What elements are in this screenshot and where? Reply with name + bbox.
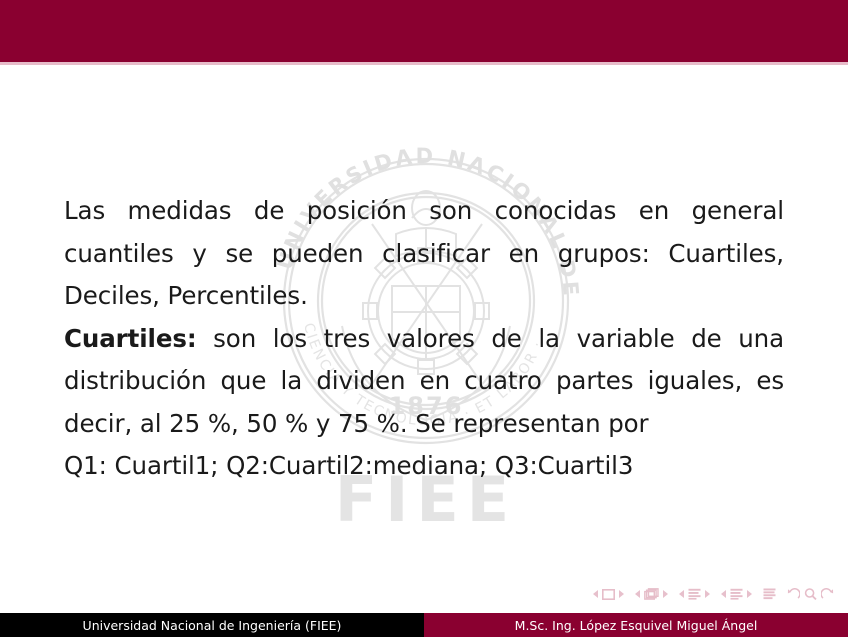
slide-header-underline	[0, 62, 848, 65]
back-arrow-icon[interactable]	[787, 588, 800, 600]
slide-root: Medidas de Posición UNIVERSIDAD NACIONAL…	[0, 0, 848, 637]
next-subsection-icon[interactable]	[705, 590, 710, 598]
nav-group-frame[interactable]	[635, 588, 668, 600]
frames-icon[interactable]	[644, 588, 659, 600]
slide-icon[interactable]	[602, 589, 615, 600]
nav-group-section[interactable]	[721, 588, 752, 600]
subsection-icon[interactable]	[688, 588, 701, 600]
document-icon[interactable]	[763, 588, 776, 600]
slide-footer: Universidad Nacional de Ingeniería (FIEE…	[0, 613, 848, 637]
next-section-icon[interactable]	[747, 590, 752, 598]
footer-author: M.Sc. Ing. López Esquivel Miguel Ángel	[424, 613, 848, 637]
nav-group-slide[interactable]	[593, 589, 624, 600]
paragraph-intro-text: Las medidas de posición son conocidas en…	[64, 196, 784, 310]
nav-group-subsection[interactable]	[679, 588, 710, 600]
paragraph-cuartiles-lead: Cuartiles:	[64, 324, 197, 353]
nav-group-tools[interactable]	[787, 588, 834, 600]
footer-institution: Universidad Nacional de Ingeniería (FIEE…	[0, 613, 424, 637]
paragraph-notation: Q1: Cuartil1; Q2:Cuartil2:mediana; Q3:Cu…	[64, 445, 784, 488]
next-frame-icon[interactable]	[663, 590, 668, 598]
slide-body: Las medidas de posición son conocidas en…	[64, 190, 784, 488]
paragraph-intro: Las medidas de posición son conocidas en…	[64, 190, 784, 318]
slide-header-bar	[0, 0, 848, 62]
beamer-navigation-bar[interactable]	[593, 583, 834, 605]
prev-section-icon[interactable]	[721, 590, 726, 598]
forward-arrow-icon[interactable]	[821, 588, 834, 600]
paragraph-cuartiles: Cuartiles: son los tres valores de la va…	[64, 318, 784, 446]
next-slide-icon[interactable]	[619, 590, 624, 598]
prev-slide-icon[interactable]	[593, 590, 598, 598]
prev-subsection-icon[interactable]	[679, 590, 684, 598]
section-icon[interactable]	[730, 588, 743, 600]
nav-group-presentation[interactable]	[763, 588, 776, 600]
paragraph-notation-text: Q1: Cuartil1; Q2:Cuartil2:mediana; Q3:Cu…	[64, 451, 633, 480]
search-icon[interactable]	[804, 588, 817, 600]
prev-frame-icon[interactable]	[635, 590, 640, 598]
